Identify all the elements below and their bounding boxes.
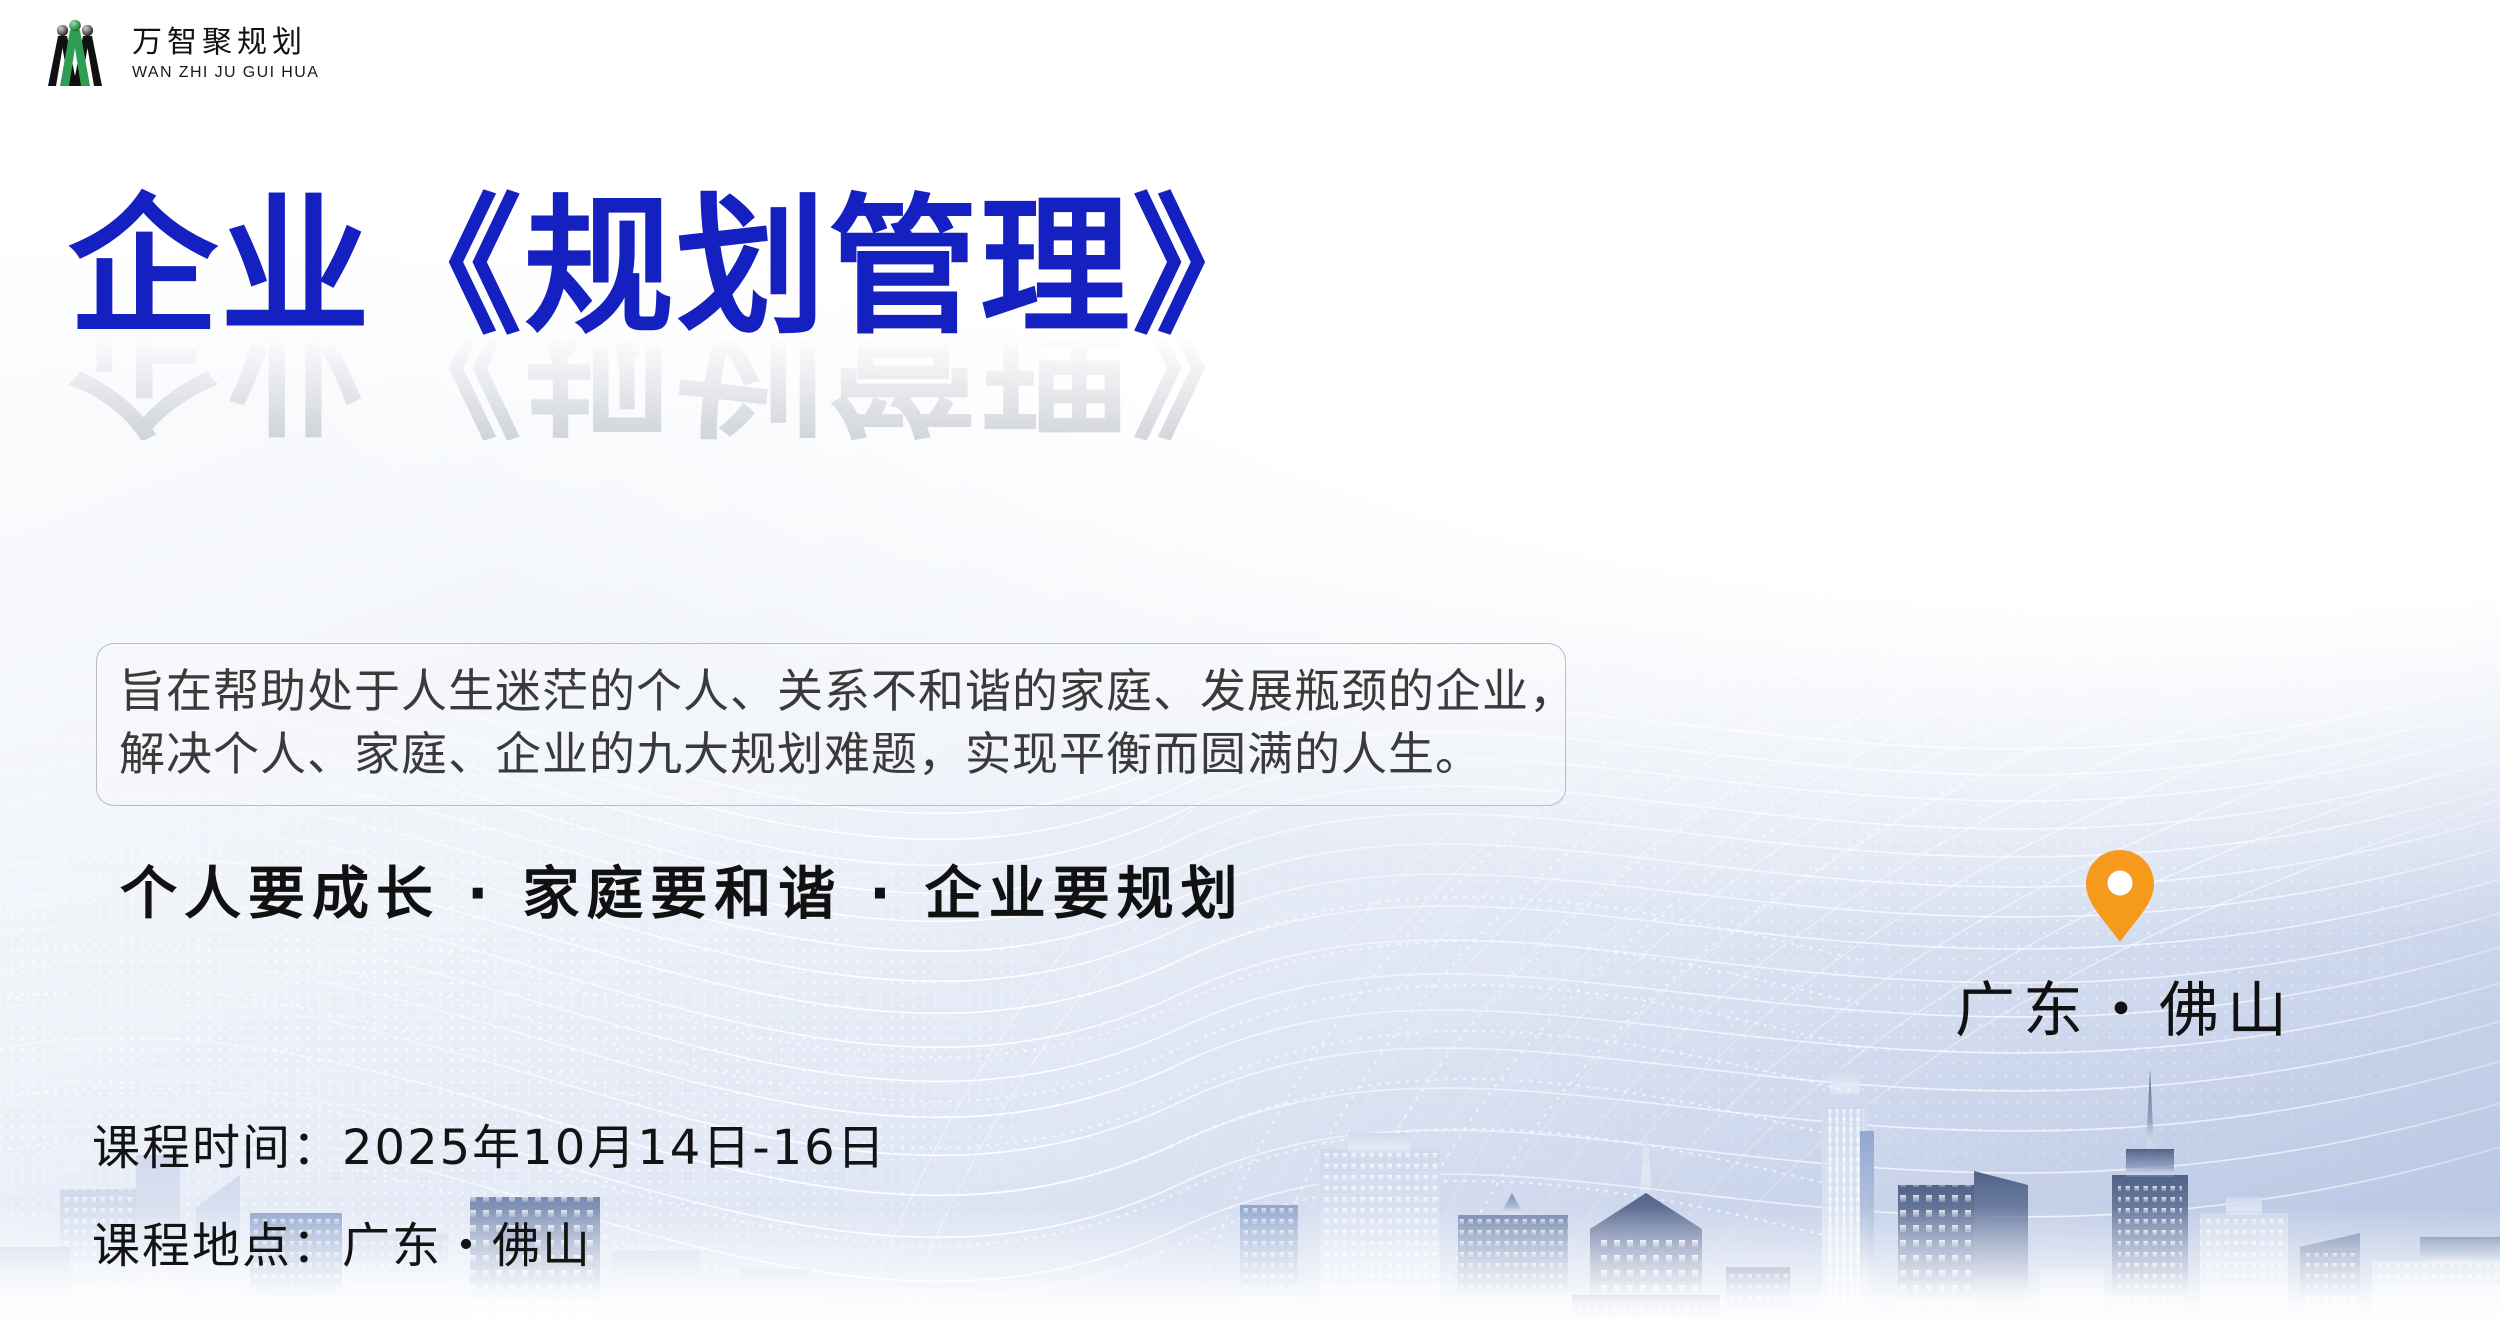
brand-name-en: WAN ZHI JU GUI HUA xyxy=(132,65,319,81)
title-block: 企业《规划管理》 企业《规划管理》 xyxy=(68,190,1468,440)
poster-canvas: 万智聚规划 WAN ZHI JU GUI HUA 企业《规划管理》 企业《规划管… xyxy=(0,0,2500,1327)
map-pin-icon xyxy=(2084,848,2156,944)
brand-text: 万智聚规划 WAN ZHI JU GUI HUA xyxy=(132,28,319,81)
description-line-1: 旨在帮助处于人生迷茫的个人、关系不和谐的家庭、发展瓶颈的企业， xyxy=(119,660,1543,723)
location-text: 广东・佛山 xyxy=(1955,962,2285,1049)
description-line-2: 解决个人、家庭、企业的九大规划难题，实现平衡而圆满的人生。 xyxy=(119,723,1543,786)
title-reflection: 企业《规划管理》 xyxy=(68,328,1468,440)
three-figures-m-logo-icon xyxy=(36,18,114,90)
course-time: 课程时间：2025年10月14日-16日 xyxy=(92,1108,887,1178)
brand-name-cn: 万智聚规划 xyxy=(132,28,319,58)
course-place: 课程地点：广东・佛山 xyxy=(92,1206,887,1276)
corner-glow xyxy=(1500,0,2500,680)
page-title: 企业《规划管理》 xyxy=(68,190,1468,348)
location-block: 广东・佛山 xyxy=(1955,848,2285,1049)
brand-logo[interactable]: 万智聚规划 WAN ZHI JU GUI HUA xyxy=(36,18,319,90)
course-info: 课程时间：2025年10月14日-16日 课程地点：广东・佛山 xyxy=(92,1108,887,1276)
description-box: 旨在帮助处于人生迷茫的个人、关系不和谐的家庭、发展瓶颈的企业， 解决个人、家庭、… xyxy=(96,643,1566,806)
tagline: 个人要成长 · 家庭要和谐 · 企业要规划 xyxy=(120,848,1245,930)
